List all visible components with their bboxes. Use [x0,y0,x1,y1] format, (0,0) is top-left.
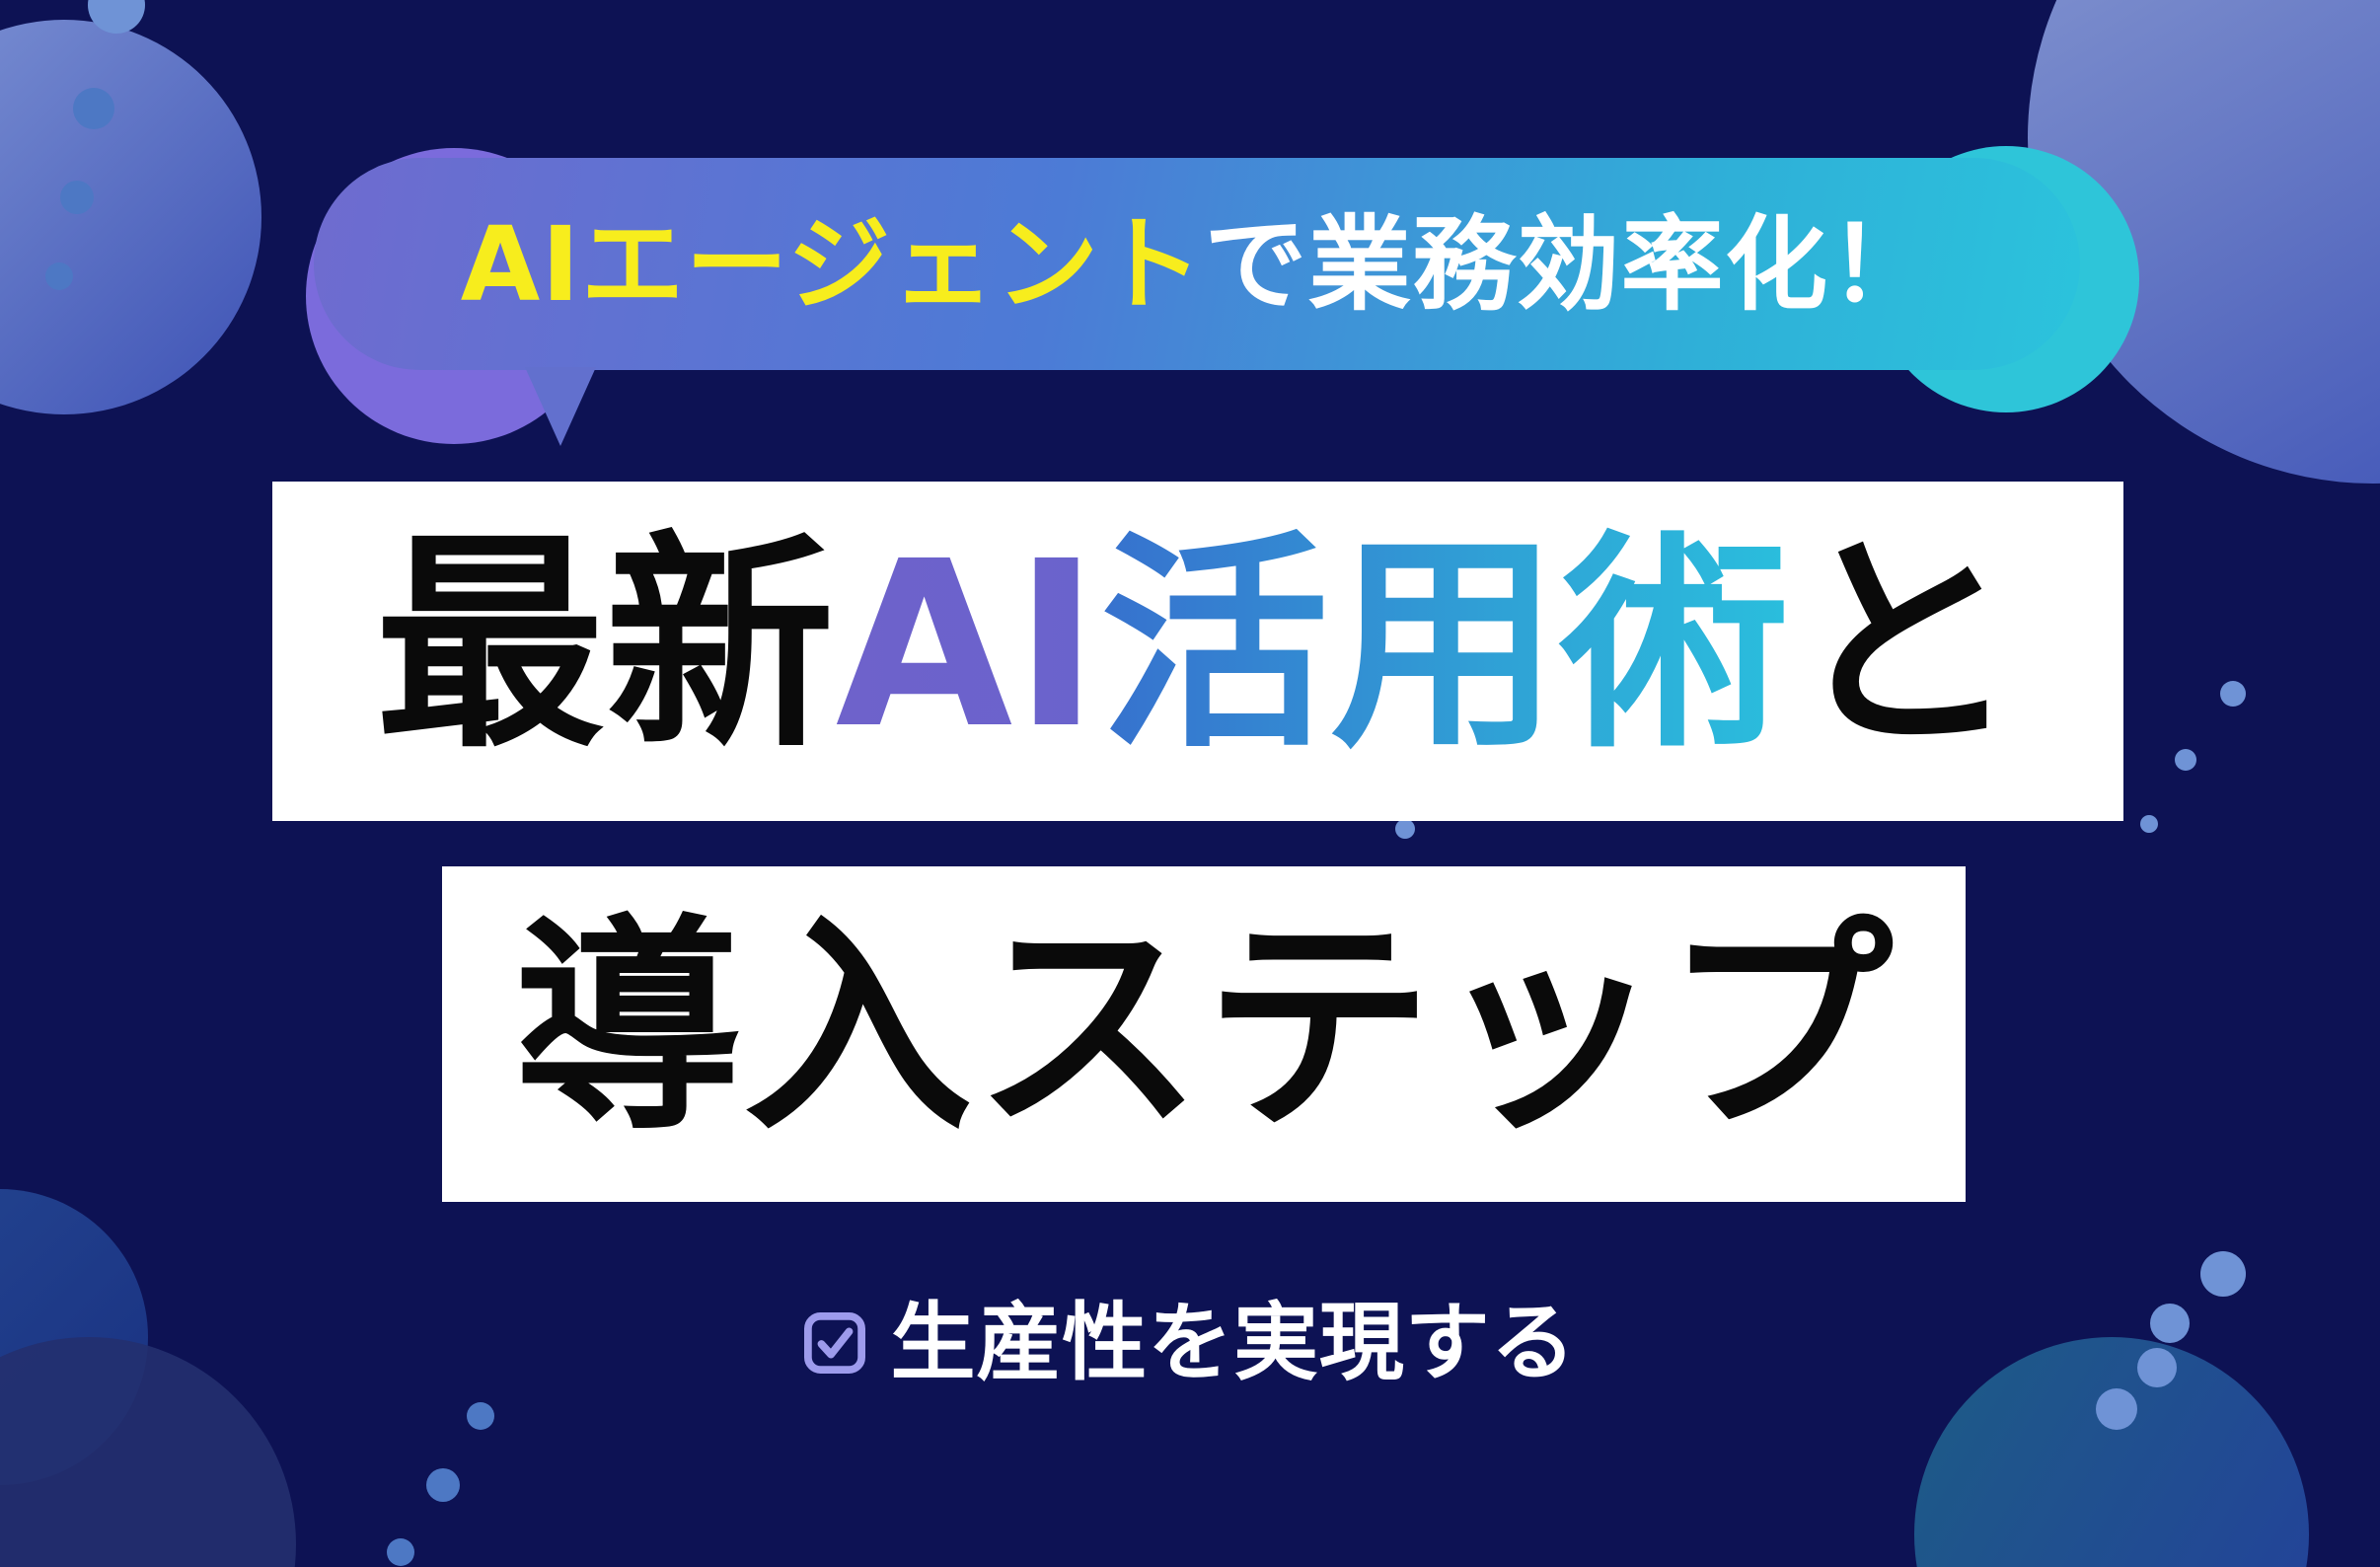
decor-dot [2096,1388,2137,1430]
headline-segment: 活用術 [1100,512,1790,779]
decor-dot [2175,749,2196,771]
decor-dot [2140,815,2158,833]
decor-dot [2200,1251,2246,1297]
headline-segment: 導入ステップ [514,895,1895,1161]
decor-dot [467,1402,494,1430]
badge-body: AIエージェントで業務効率化！ [314,158,2080,370]
decor-dot [88,0,145,34]
badge-text: AIエージェントで業務効率化！ [461,213,1934,316]
headline-segment: 最新 [375,512,835,779]
decor-circle-top-right [2028,0,2380,484]
poster-canvas: AIエージェントで業務効率化！ 最新AI活用術と 導入ステップ 生産性を実現する [0,0,2380,1567]
decor-circle-top-left [0,20,261,414]
badge-speech-bubble: AIエージェントで業務効率化！ [314,158,2080,370]
tagline-row: 生産性を実現する [0,1301,2380,1385]
headline-segment: AI [836,512,1100,779]
headline-segment: と [1790,512,2020,779]
checkbox-checked-icon [804,1312,865,1374]
decor-dot [60,181,94,214]
badge-tail-icon [525,367,596,446]
headline-panel-1: 最新AI活用術と [272,482,2123,821]
headline-line-2: 導入ステップ [514,914,1895,1143]
decor-dot [45,262,73,290]
decor-dot [1395,819,1415,839]
headline-panel-2: 導入ステップ [442,866,1966,1202]
badge-text-plain: で業務効率化！ [1204,204,1933,325]
headline-line-1: 最新AI活用術と [375,531,2020,760]
decor-dot [73,88,114,129]
decor-dot [426,1468,460,1502]
decor-dot [2220,681,2246,707]
tagline-text: 生産性を実現する [891,1301,1577,1385]
decor-dot [387,1538,414,1566]
badge-text-accent: AIエージェント [461,204,1205,325]
